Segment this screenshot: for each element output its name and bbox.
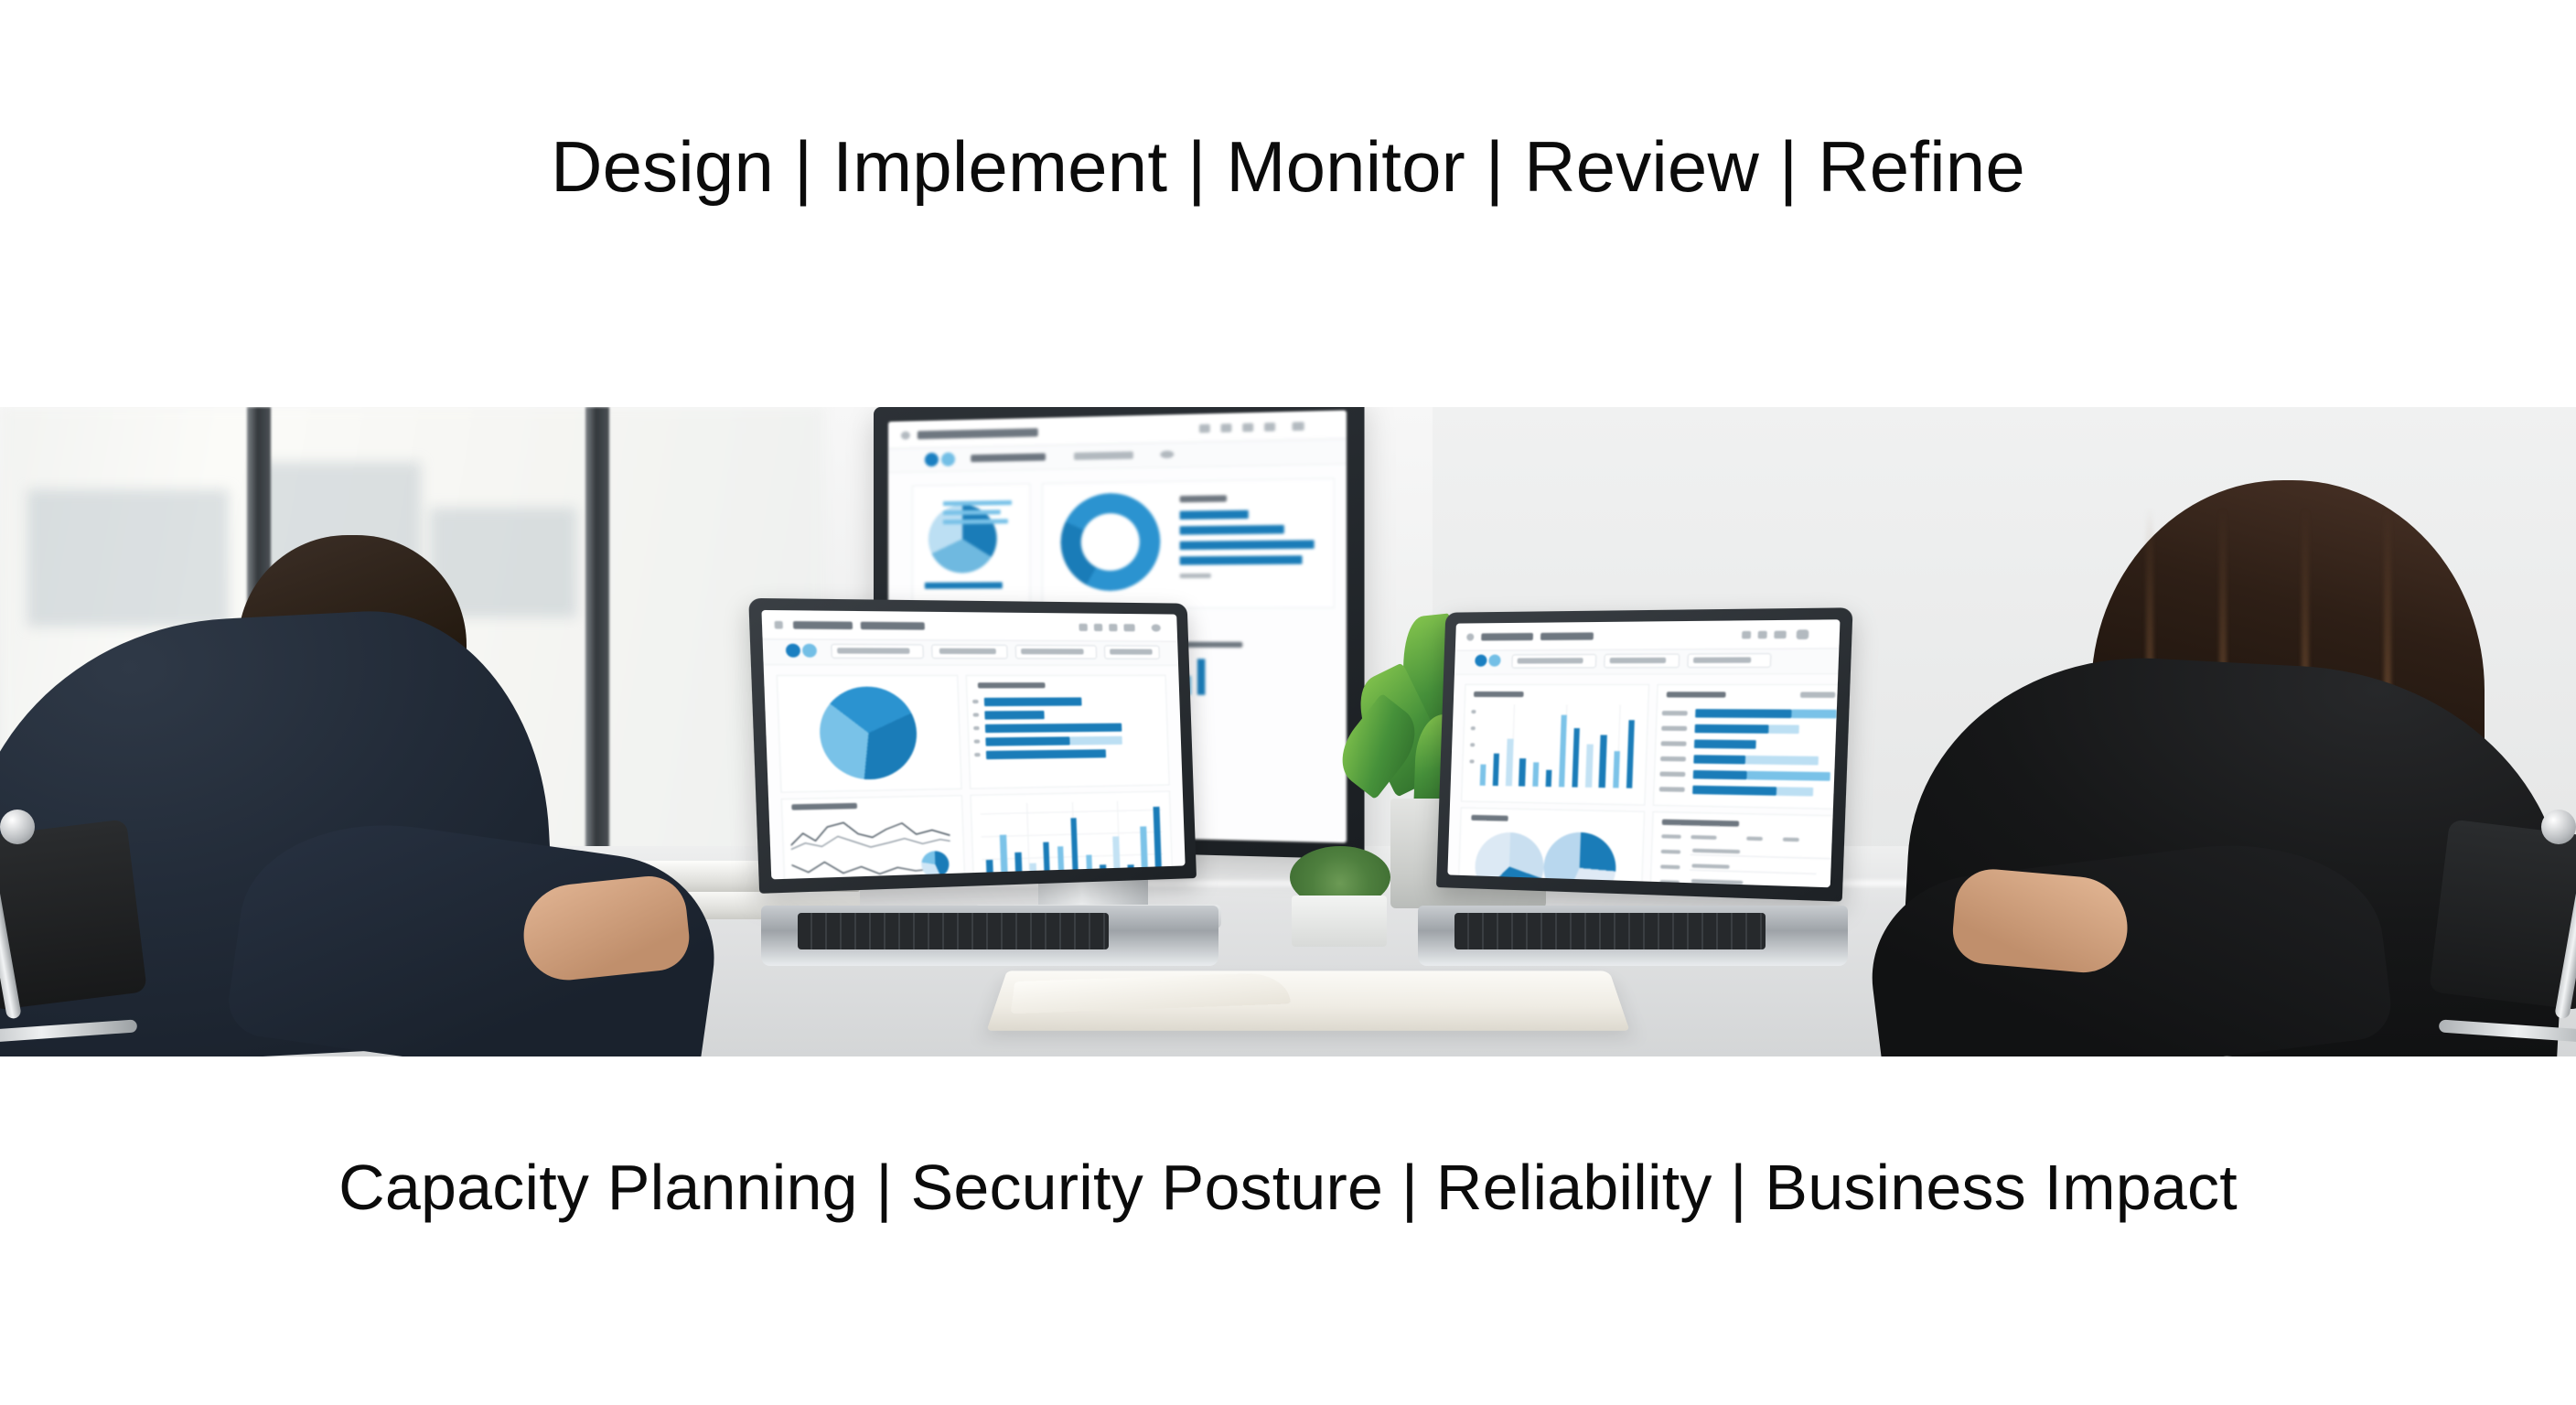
axis-tick <box>1471 726 1476 730</box>
v-bar <box>1113 836 1121 874</box>
chair-pivot-knob <box>0 810 35 844</box>
v-bar <box>1519 758 1526 786</box>
v-bar <box>1057 846 1065 875</box>
top-caption-text: Design | Implement | Monitor | Review | … <box>551 125 2025 209</box>
axis-tick <box>973 713 980 716</box>
row-label <box>1661 741 1687 745</box>
widget-title <box>1474 692 1524 697</box>
brand-logo-icon <box>786 644 800 658</box>
v-bar <box>1585 745 1593 788</box>
h-bar <box>1745 756 1819 766</box>
toolbar-icon[interactable] <box>1242 424 1253 433</box>
v-bar <box>1532 762 1539 787</box>
laptop-right <box>1436 613 1820 970</box>
v-bar <box>1043 842 1050 876</box>
laptop-left-dashboard <box>761 610 1185 879</box>
v-bar <box>1480 765 1487 786</box>
laptop-right-dashboard <box>1447 619 1840 887</box>
v-bar <box>1493 753 1500 786</box>
line-chart <box>790 816 953 853</box>
v-bar <box>1572 728 1580 788</box>
toolbar-icon[interactable] <box>1264 423 1275 432</box>
office-scene-photo <box>0 407 2576 1056</box>
laptop-left-lid <box>748 598 1197 894</box>
table-column-header <box>1661 834 1681 839</box>
toolbar-icon[interactable] <box>1109 624 1117 631</box>
axis-tick <box>1469 759 1474 763</box>
table-cell-value <box>1691 879 1744 885</box>
page-root: Design | Implement | Monitor | Review | … <box>0 0 2576 1405</box>
row-label <box>1660 756 1686 762</box>
open-notebook <box>997 930 1619 1040</box>
table-row-label <box>1659 880 1680 885</box>
row-label <box>1662 711 1688 715</box>
pie-summary-bar <box>925 582 1003 588</box>
v-bar <box>1140 826 1148 873</box>
axis-label <box>1180 574 1211 578</box>
axis-tick <box>1471 710 1476 713</box>
tab-label <box>1693 657 1751 663</box>
axis-tick <box>974 753 981 756</box>
tab-label <box>939 649 996 654</box>
chair-backrest <box>2429 819 2576 1010</box>
tab-label <box>1110 649 1153 654</box>
widget-title <box>1667 692 1726 697</box>
back-icon[interactable] <box>775 621 783 629</box>
laptop-left <box>785 604 1197 970</box>
v-bar <box>1086 855 1093 874</box>
h-bar <box>1180 555 1303 564</box>
breadcrumb <box>1481 633 1533 641</box>
chair-pivot-knob <box>2541 810 2576 844</box>
v-bar <box>1100 864 1106 874</box>
v-bar <box>1559 714 1567 787</box>
office-chair-left <box>0 782 156 1056</box>
h-bar <box>986 749 1106 759</box>
pie-legend-bar <box>943 509 1001 515</box>
panel-badge <box>1800 692 1835 697</box>
table-row-label <box>1661 850 1681 854</box>
chair-backrest <box>0 819 147 1010</box>
h-bar <box>1692 786 1776 796</box>
v-bar <box>1128 865 1134 874</box>
tab-label[interactable] <box>971 453 1046 462</box>
laptop-right-screen <box>1447 619 1840 887</box>
bottom-caption-text: Capacity Planning | Security Posture | R… <box>338 1151 2238 1224</box>
toolbar-icon[interactable] <box>1123 624 1134 631</box>
widget-title <box>978 682 1046 688</box>
widget-title <box>1471 815 1508 821</box>
row-label <box>1659 772 1685 778</box>
table-column-header <box>1783 838 1799 842</box>
v-bar <box>1613 751 1620 788</box>
menu-icon[interactable] <box>1293 422 1304 431</box>
toolbar-icon[interactable] <box>1199 424 1210 434</box>
h-bar <box>984 711 1044 720</box>
breadcrumb <box>793 621 853 629</box>
column-chart <box>1476 704 1639 788</box>
v-bar <box>1070 819 1079 875</box>
help-icon[interactable] <box>1152 624 1161 631</box>
laptop-left-screen <box>761 610 1185 879</box>
axis-tick <box>973 726 980 730</box>
v-bar <box>1014 853 1022 877</box>
table-row-label <box>1660 864 1680 869</box>
v-bar <box>1154 807 1162 873</box>
v-bar <box>1599 735 1607 788</box>
axis-tick <box>972 700 979 703</box>
h-bar <box>1693 755 1745 764</box>
dashboard-title-text <box>861 622 925 630</box>
h-bar <box>1768 724 1799 734</box>
column-chart <box>980 800 1165 878</box>
table-column-header <box>1746 837 1763 842</box>
axis-tick <box>974 740 981 744</box>
toolbar-icon[interactable] <box>1221 424 1232 433</box>
h-bar <box>985 736 1069 745</box>
toolbar-icon[interactable] <box>1742 631 1751 639</box>
toolbar-icon[interactable] <box>1079 624 1088 631</box>
donut-chart <box>1060 492 1160 591</box>
dashboard-title-text <box>1540 632 1594 640</box>
brand-logo-icon <box>802 644 817 658</box>
tab-label <box>1610 658 1667 663</box>
h-bar <box>1695 709 1791 718</box>
table-column-header <box>1690 835 1716 840</box>
avatar[interactable] <box>1797 629 1809 639</box>
h-bar <box>1746 771 1830 781</box>
h-bar <box>1180 525 1284 535</box>
toolbar-icon[interactable] <box>1758 631 1767 639</box>
bottom-caption-band: Capacity Planning | Security Posture | R… <box>0 1056 2576 1405</box>
axis-tick-row <box>982 875 1162 879</box>
h-bar <box>1694 740 1756 749</box>
h-bar <box>1695 724 1769 734</box>
h-bar <box>1776 787 1813 796</box>
v-bar <box>986 860 993 878</box>
top-caption-band: Design | Implement | Monitor | Review | … <box>0 0 2576 407</box>
widget-title <box>1180 495 1227 502</box>
row-label <box>1659 787 1685 792</box>
laptop-right-lid <box>1436 607 1853 901</box>
v-bar <box>1506 739 1513 787</box>
h-bar <box>1180 540 1315 550</box>
tab-label[interactable] <box>1074 451 1133 460</box>
v-bar <box>1197 659 1206 695</box>
h-bar <box>1791 710 1837 719</box>
h-bar <box>1180 510 1249 520</box>
chair-armrest <box>0 1019 137 1044</box>
h-bar <box>1069 736 1122 745</box>
v-bar <box>1626 720 1635 788</box>
tab-label <box>837 648 909 654</box>
v-bar <box>1000 835 1008 878</box>
pie-legend-bar <box>943 500 1012 506</box>
tab-label <box>1021 649 1084 654</box>
chair-armrest <box>2439 1019 2576 1044</box>
v-bar <box>1545 770 1551 787</box>
h-bar <box>984 697 1082 706</box>
h-bar <box>985 724 1122 734</box>
office-chair-right <box>2411 782 2576 1056</box>
h-bar <box>1693 770 1747 779</box>
axis-tick <box>1470 743 1475 746</box>
pie-legend-bar <box>943 519 1008 524</box>
row-label <box>1661 726 1687 731</box>
v-bar <box>1029 863 1036 876</box>
mini-pie-chart <box>921 851 950 878</box>
toolbar-icon[interactable] <box>1094 624 1102 631</box>
toolbar-icon[interactable] <box>1774 631 1787 639</box>
tab-label <box>1518 658 1583 663</box>
